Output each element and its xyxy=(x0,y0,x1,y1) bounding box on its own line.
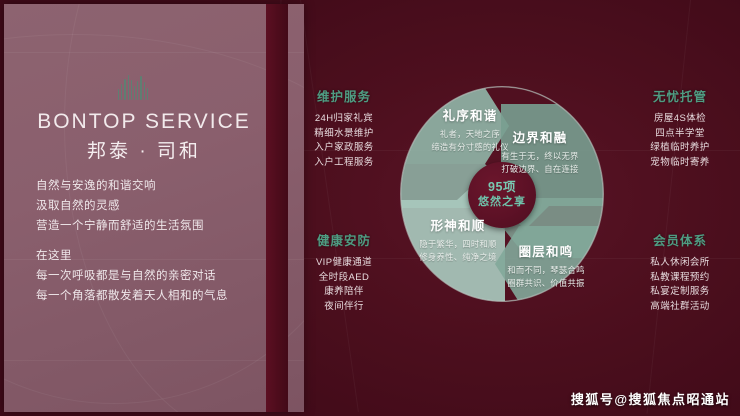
service-item: 房屋4S体检 xyxy=(632,112,728,127)
service-group-list: 私人休闲会所 私教课程预约 私宴定制服务 高端社群活动 xyxy=(632,256,728,314)
service-item: 绿植临时养护 xyxy=(632,141,728,156)
hero-copy-line: 在这里 xyxy=(36,246,276,266)
service-item: 四点半学堂 xyxy=(632,127,728,142)
service-group-carefree-trusteeship: 无忧托管 房屋4S体检 四点半学堂 绿植临时养护 宠物临时寄养 xyxy=(632,86,728,170)
hero-copy-line: 汲取自然的灵感 xyxy=(36,196,276,216)
hero-copy-line: 每一次呼吸都是与自然的亲密对话 xyxy=(36,266,276,286)
wheel-hub-count: 95项 xyxy=(488,180,516,195)
brand-name-cn: 邦泰 · 司和 xyxy=(0,136,288,163)
slide-canvas: BONTOP SERVICE 邦泰 · 司和 自然与安逸的和谐交响 汲取自然的灵… xyxy=(0,0,740,416)
service-item: 宠物临时寄养 xyxy=(632,156,728,171)
hero-copy-line: 自然与安逸的和谐交响 xyxy=(36,176,276,196)
quadrant-title: 圈层和鸣 xyxy=(487,244,605,260)
value-wheel-diagram: 95项 悠然之享 礼序和谐 礼者，天地之序 缔造有分寸感的礼仪 边界和融 有生于… xyxy=(397,78,607,310)
service-item: 私教课程预约 xyxy=(632,271,728,286)
brand-name-en: BONTOP SERVICE xyxy=(0,110,288,134)
wheel-quadrant-boundary-fusion: 边界和融 有生于无，终以无界 打破边界、自在连接 xyxy=(481,130,599,175)
service-item: 私人休闲会所 xyxy=(632,256,728,271)
quadrant-title: 边界和融 xyxy=(481,130,599,146)
decor-rule-3 xyxy=(4,360,304,361)
service-item: 精细水景维护 xyxy=(296,127,392,142)
service-item: 康养陪伴 xyxy=(296,285,392,300)
watermark-label: 搜狐号@搜狐焦点昭通站 xyxy=(571,389,730,408)
service-item: 私宴定制服务 xyxy=(632,285,728,300)
hero-copy-line: 营造一个宁静而舒适的生活氛围 xyxy=(36,216,276,236)
service-group-title: 无忧托管 xyxy=(632,86,728,105)
service-item: 高端社群活动 xyxy=(632,300,728,315)
service-group-maintenance: 维护服务 24H归家礼宾 精细水景维护 入户家政服务 入户工程服务 xyxy=(296,86,392,170)
copy-spacer xyxy=(36,236,276,246)
service-group-list: 24H归家礼宾 精细水景维护 入户家政服务 入户工程服务 xyxy=(296,112,392,170)
service-group-title: 会员体系 xyxy=(632,230,728,249)
quadrant-title: 礼序和谐 xyxy=(411,108,529,124)
hero-copy: 自然与安逸的和谐交响 汲取自然的灵感 营造一个宁静而舒适的生活氛围 在这里 每一… xyxy=(36,176,276,306)
service-item: 入户家政服务 xyxy=(296,141,392,156)
service-group-membership: 会员体系 私人休闲会所 私教课程预约 私宴定制服务 高端社群活动 xyxy=(632,230,728,314)
soundwave-bars-icon xyxy=(118,74,148,100)
service-group-list: 房屋4S体检 四点半学堂 绿植临时养护 宠物临时寄养 xyxy=(632,112,728,170)
wheel-hub-label: 悠然之享 xyxy=(478,195,526,210)
service-group-title: 健康安防 xyxy=(296,230,392,249)
service-item: 全时段AED xyxy=(296,271,392,286)
quadrant-line: 有生于无，终以无界 xyxy=(481,150,599,163)
service-group-health-security: 健康安防 VIP健康通道 全时段AED 康养陪伴 夜间伴行 xyxy=(296,230,392,314)
hero-copy-line: 每一个角落都散发着天人相和的气息 xyxy=(36,286,276,306)
decor-rule-1 xyxy=(4,52,304,53)
service-item: 夜间伴行 xyxy=(296,300,392,315)
service-item: 入户工程服务 xyxy=(296,156,392,171)
quadrant-title: 形神和顺 xyxy=(399,218,517,234)
service-group-list: VIP健康通道 全时段AED 康养陪伴 夜间伴行 xyxy=(296,256,392,314)
wheel-quadrant-circle-resonance: 圈层和鸣 和而不同，琴瑟合鸣 圈群共识、价值共振 xyxy=(487,244,605,289)
quadrant-line: 圈群共识、价值共振 xyxy=(487,277,605,290)
quadrant-line: 和而不同，琴瑟合鸣 xyxy=(487,264,605,277)
service-item: 24H归家礼宾 xyxy=(296,112,392,127)
service-group-title: 维护服务 xyxy=(296,86,392,105)
quadrant-line: 打破边界、自在连接 xyxy=(481,163,599,176)
service-item: VIP健康通道 xyxy=(296,256,392,271)
